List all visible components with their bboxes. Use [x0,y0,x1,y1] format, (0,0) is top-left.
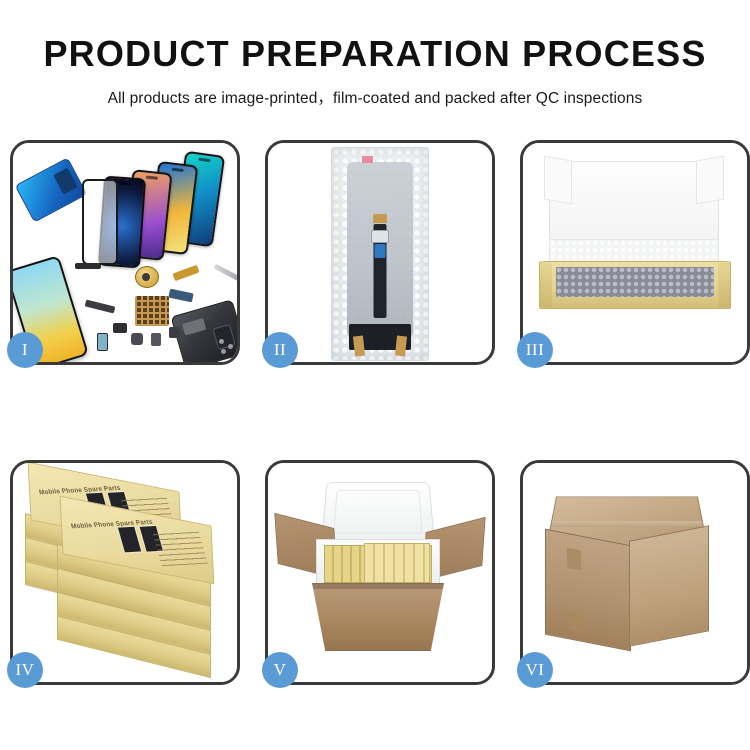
adhesive-tab-icon [373,214,387,223]
small-part-icon [113,323,127,333]
step-image-3 [523,143,747,362]
bubble-wrapped-contents-icon [556,267,714,297]
yellow-boxes-row-icon [364,543,430,583]
small-part-icon [131,333,143,345]
product-preparation-infographic: PRODUCT PREPARATION PROCESS All products… [0,0,750,750]
lcd-driver-ic-icon [375,244,386,258]
box-spec-lines [152,529,208,567]
blue-screen-protector-icon [15,157,88,222]
page-subtitle: All products are image-printed，film-coat… [0,86,750,108]
step-image-1 [13,143,237,362]
tape-strip-icon [567,548,581,571]
step-badge-4: IV [7,652,43,688]
adhesive-tab-icon [353,336,365,357]
carton-body-icon [312,583,444,651]
carton-side-face [629,525,709,647]
bubble-wrap-bag-icon [331,147,429,361]
steps-grid: I II [10,140,740,685]
small-part-icon [169,327,180,338]
step-panel-5: V [265,460,495,685]
step-badge-6: VI [517,652,553,688]
pink-label-icon [362,156,373,163]
small-part-icon [97,333,108,351]
tape-strip-icon [569,612,583,633]
antenna-strip-icon [75,263,101,269]
box-stack-group: Mobile Phone Spare Parts Mobile Phone Sp… [19,477,231,673]
step-image-5 [268,463,492,682]
step-badge-2: II [262,332,298,368]
step-badge-5: V [262,652,298,688]
chip-grid-part-icon [135,296,169,326]
yellow-tray-icon [539,261,731,309]
step-panel-6: VI [520,460,750,685]
step-panel-3: III [520,140,750,365]
lcd-connector-icon [371,230,389,243]
step-panel-4: Mobile Phone Spare Parts Mobile Phone Sp… [10,460,240,685]
adhesive-tab-icon [395,336,407,357]
tempered-glass-icon [82,179,118,265]
flex-cable-icon [85,299,116,313]
step-image-4: Mobile Phone Spare Parts Mobile Phone Sp… [13,463,237,682]
step-image-6 [523,463,747,682]
step-panel-2: II [265,140,495,365]
notch-icon [146,176,158,180]
step-badge-1: I [7,332,43,368]
header: PRODUCT PREPARATION PROCESS All products… [0,0,750,108]
small-part-icon [151,333,161,346]
gold-flex-icon [172,265,199,281]
screws-group-icon [219,339,237,355]
step-image-2 [268,143,492,362]
tray-lip-right [718,261,730,310]
foam-lid-icon [321,482,435,543]
spare-parts-group [73,261,237,362]
notch-icon [119,182,131,186]
tweezers-icon [214,264,237,283]
tray-lip-left [540,261,552,310]
notch-icon [198,158,210,163]
notch-icon [172,168,184,172]
carton-front-face [545,529,631,652]
phone-fan-group [81,151,237,271]
blue-flex-icon [168,289,193,303]
step-badge-3: III [517,332,553,368]
step-panel-1: I [10,140,240,365]
speaker-part-icon [135,266,159,288]
page-title: PRODUCT PREPARATION PROCESS [0,36,750,72]
